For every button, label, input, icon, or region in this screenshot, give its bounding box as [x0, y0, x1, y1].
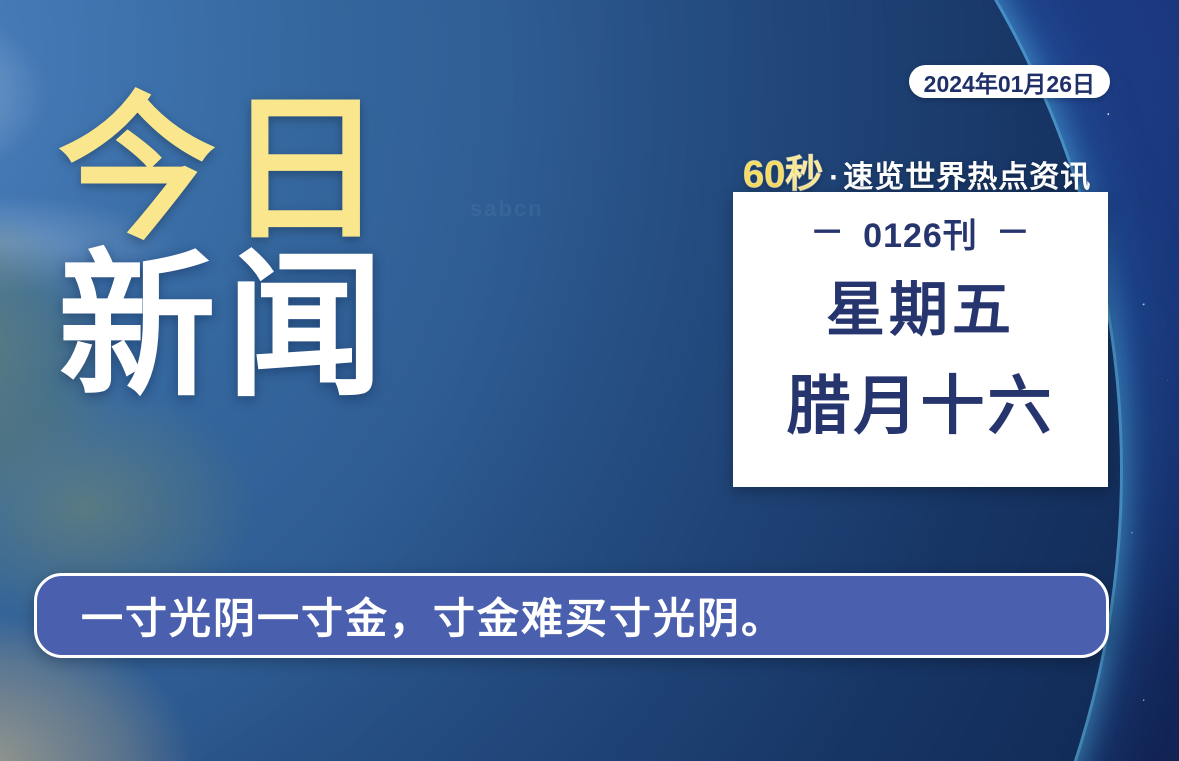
weekday-label: 星期五	[826, 281, 1015, 340]
watermark-text: sabcn	[470, 196, 544, 222]
issue-number: 0126刊	[863, 208, 978, 257]
tagline: 60秒 · 速览世界热点资讯	[743, 143, 1091, 198]
proverb-banner: 一寸光阴一寸金，寸金难买寸光阴。	[34, 573, 1109, 658]
page-title: 今日 新闻	[58, 96, 394, 401]
tagline-separator: ·	[829, 161, 839, 195]
issue-info-card: － 0126刊 － 星期五 腊月十六	[733, 192, 1108, 487]
tagline-seconds: 60秒	[743, 143, 823, 198]
issue-dash-left: －	[810, 216, 845, 250]
issue-row: － 0126刊 －	[810, 208, 1031, 257]
lunar-date-label: 腊月十六	[787, 374, 1055, 438]
tagline-description: 速览世界热点资讯	[843, 152, 1091, 196]
page-title-line-1: 今日	[58, 96, 394, 245]
issue-dash-right: －	[996, 216, 1031, 250]
page-title-line-2: 新闻	[58, 253, 394, 402]
date-badge: 2024年01月26日	[909, 65, 1110, 98]
news-poster: sabcn 今日 新闻 2024年01月26日 60秒 · 速览世界热点资讯 －…	[0, 0, 1179, 761]
